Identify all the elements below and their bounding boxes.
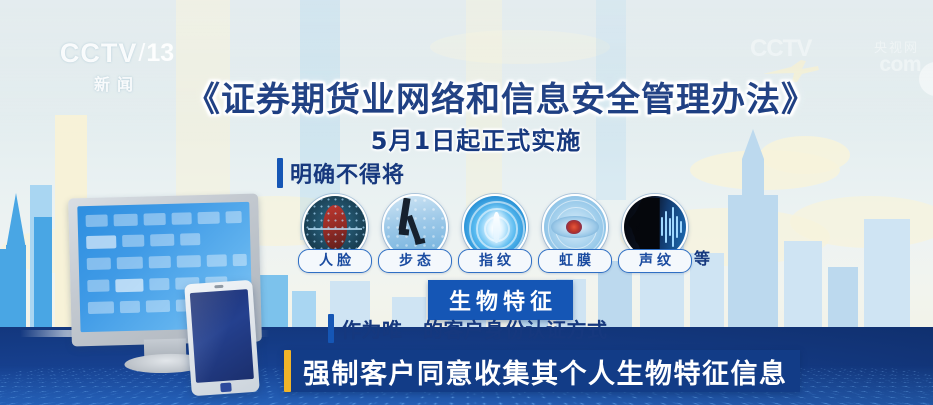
logo-wordmark: CCTV / 13 (52, 36, 182, 70)
blue-accent-bar (328, 314, 334, 343)
biometric-item-voiceprint: 声纹 (616, 194, 694, 273)
logo-channel-number: 13 (146, 39, 174, 68)
etc-label: 等 (694, 245, 710, 269)
biometric-item-fingerprint: 指纹 (456, 194, 534, 273)
biometric-label: 虹膜 (538, 249, 612, 273)
prohibit-label-text: 明确不得将 (290, 157, 405, 189)
broadcast-graphic-stage: CCTV / 13 新闻 CCTV 央视网 com 《证券期货业网络和信息安全管… (0, 0, 933, 405)
biometric-label: 人脸 (298, 249, 372, 273)
tablet-device-illustration (184, 280, 260, 396)
logo-slash-icon: / (138, 39, 145, 68)
biometric-label: 指纹 (458, 249, 532, 273)
blue-accent-bar (277, 158, 283, 188)
sole-auth-text: 作为唯一的客户身份认证方式 (341, 314, 608, 343)
gold-accent-bar (284, 350, 291, 392)
tablet-screen (190, 289, 254, 383)
logo-cctv-text: CCTV (60, 38, 138, 69)
forced-consent-row: 强制客户同意收集其个人生物特征信息 (284, 350, 800, 392)
tablet-camera (214, 285, 223, 289)
biometric-item-gait: 步态 (376, 194, 454, 273)
biometric-item-iris: 虹膜 (536, 194, 614, 273)
prohibit-label-row: 明确不得将 (277, 158, 405, 188)
sole-auth-row: 作为唯一的客户身份认证方式 (328, 314, 608, 343)
cctv13-logo: CCTV / 13 新闻 (52, 36, 182, 94)
biometric-label: 声纹 (618, 249, 692, 273)
logo-subtitle: 新闻 (52, 71, 182, 95)
page-subtitle: 5月1日起正式实施 (186, 121, 766, 156)
biometric-label: 步态 (378, 249, 452, 273)
watermark-domain: com (879, 53, 921, 77)
tablet-home-button (220, 382, 232, 392)
forced-consent-text: 强制客户同意收集其个人生物特征信息 (303, 352, 788, 391)
biometrics-row: 人脸 步态 (296, 194, 710, 273)
cctv-com-watermark: CCTV 央视网 com (750, 36, 925, 80)
page-title: 《证券期货业网络和信息安全管理办法》 (186, 72, 766, 121)
biometric-item-face: 人脸 (296, 194, 374, 273)
